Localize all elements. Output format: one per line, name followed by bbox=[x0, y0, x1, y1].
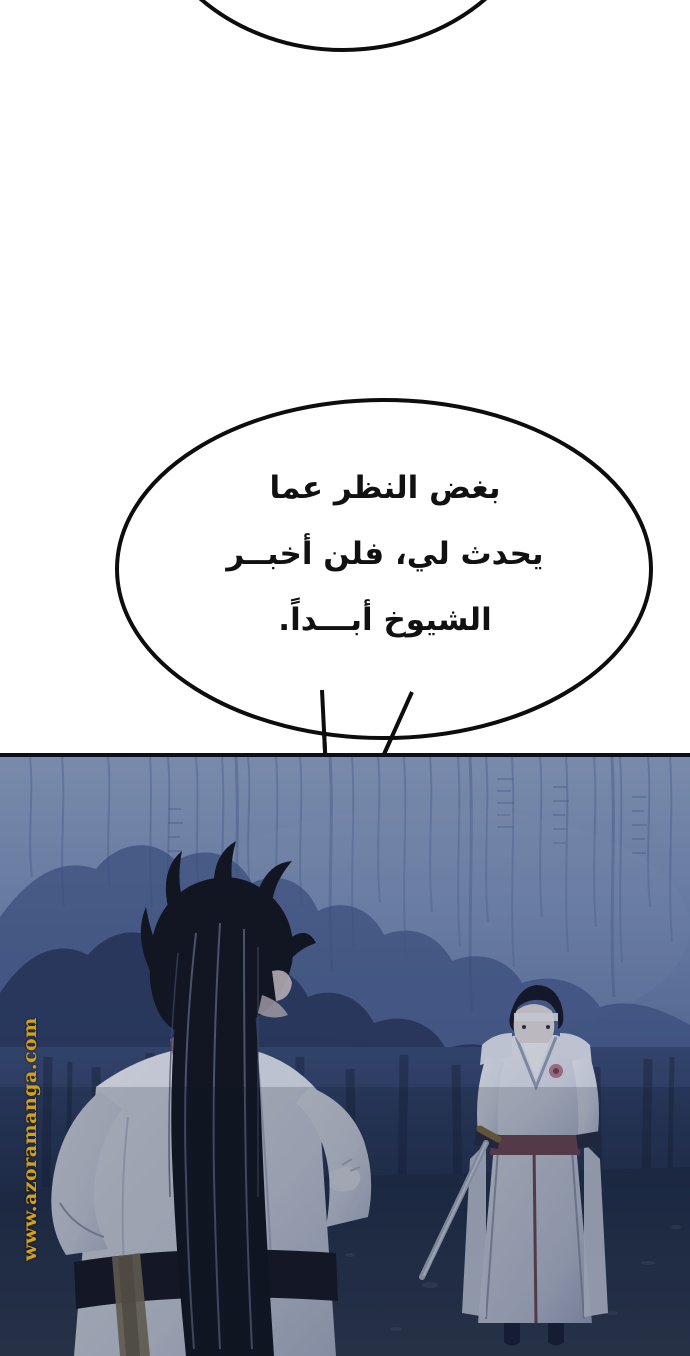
speech-line-3: الشيوخ أبـــداً. bbox=[150, 587, 620, 653]
site-watermark: www.azoramanga.com bbox=[19, 1009, 41, 1269]
speech-line-1: بغض النظر عما bbox=[150, 455, 620, 521]
night-forest-panel bbox=[0, 757, 690, 1356]
webtoon-page: بغض النظر عما يحدث لي، فلن أخبــر الشيوخ… bbox=[0, 0, 690, 1356]
speech-line-2: يحدث لي، فلن أخبــر bbox=[150, 521, 620, 587]
speech-bubble-text: بغض النظر عما يحدث لي، فلن أخبــر الشيوخ… bbox=[150, 455, 620, 653]
